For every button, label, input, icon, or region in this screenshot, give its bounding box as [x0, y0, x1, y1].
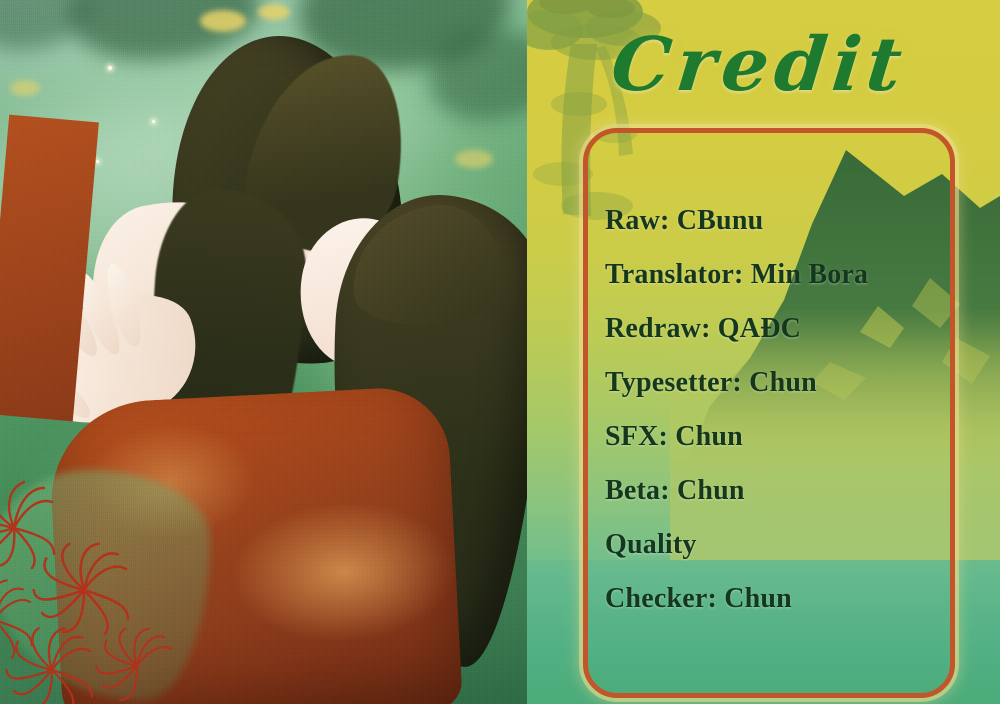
illustration-panel	[0, 0, 527, 704]
canopy-foliage	[0, 0, 90, 50]
credits-page: Credit Raw: CBunu Translator: Min Bora R…	[0, 0, 1000, 704]
credit-line-raw: Raw: CBunu	[605, 194, 935, 248]
credit-line-translator: Translator: Min Bora	[605, 248, 935, 302]
credit-line-typesetter: Typesetter: Chun	[605, 356, 935, 410]
sparkle	[96, 160, 99, 163]
credit-line-checker: Checker: Chun	[605, 572, 935, 626]
sparkle	[152, 120, 155, 123]
gold-bokeh	[455, 150, 493, 168]
credit-line-sfx: SFX: Chun	[605, 410, 935, 464]
credit-line-beta: Beta: Chun	[605, 464, 935, 518]
credit-list: Raw: CBunu Translator: Min Bora Redraw: …	[605, 194, 935, 626]
page-title: Credit	[607, 22, 911, 108]
gold-bokeh	[10, 80, 40, 96]
credit-line-redraw: Redraw: QAĐC	[605, 302, 935, 356]
red-spider-lilies	[0, 470, 202, 704]
gold-bokeh	[258, 4, 290, 20]
gold-bokeh	[200, 10, 246, 32]
sparkle	[108, 66, 112, 70]
credit-line-quality: Quality	[605, 518, 935, 572]
